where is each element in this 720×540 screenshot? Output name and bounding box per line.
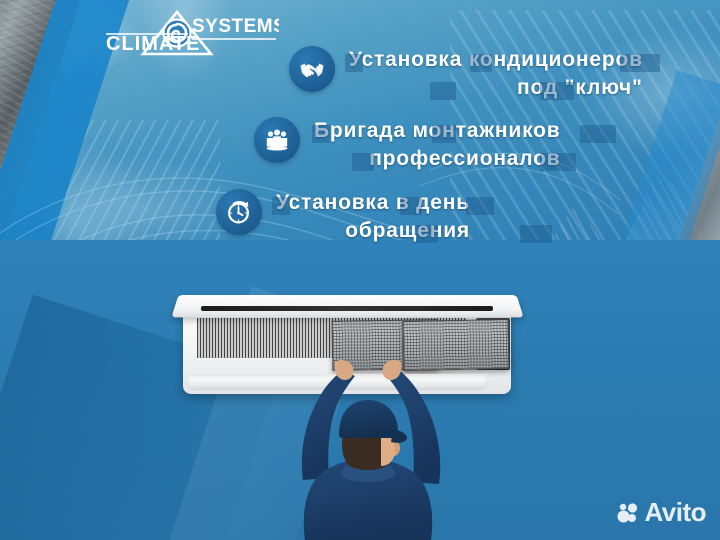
- ac-vent-slot: [201, 306, 493, 311]
- feature-line-2: профессионалов: [314, 145, 561, 173]
- feature-text: Установка в день обращения: [276, 189, 470, 244]
- feature-line-1: Установка в день: [276, 189, 470, 217]
- feature-line-2: обращения: [276, 217, 470, 245]
- advertisement-banner: CLIMATE SYSTEMS: [0, 0, 720, 540]
- feature-item-same-day-installation: Установка в день обращения: [0, 189, 700, 244]
- text-highlight: [520, 225, 552, 243]
- feature-line-1: Бригада монтажников: [314, 117, 561, 145]
- feature-text: Установка кондиционеров под "ключ": [349, 46, 643, 101]
- technician-cap: [339, 400, 398, 438]
- technician-hands: [335, 360, 402, 380]
- handshake-icon: [289, 46, 335, 92]
- feature-line-1: Установка кондиционеров: [349, 46, 643, 74]
- team-group-icon: [254, 117, 300, 163]
- clock-arrow-icon: [216, 189, 262, 235]
- feature-item-professional-team: Бригада монтажников профессионалов: [0, 117, 700, 172]
- avito-label: Avito: [644, 497, 706, 528]
- text-highlight: [580, 125, 616, 143]
- avito-watermark: Avito: [617, 497, 706, 528]
- feature-text: Бригада монтажников профессионалов: [314, 117, 561, 172]
- logo-word-systems: SYSTEMS: [192, 16, 279, 37]
- feature-item-turnkey-installation: Установка кондиционеров под "ключ": [0, 46, 700, 101]
- feature-list: Установка кондиционеров под "ключ": [0, 46, 700, 260]
- technician-cap-brim: [391, 430, 407, 443]
- text-highlight: [466, 197, 494, 215]
- feature-line-2: под "ключ": [349, 74, 643, 102]
- avito-dots-icon: [617, 502, 639, 524]
- technician-figure: [243, 360, 493, 540]
